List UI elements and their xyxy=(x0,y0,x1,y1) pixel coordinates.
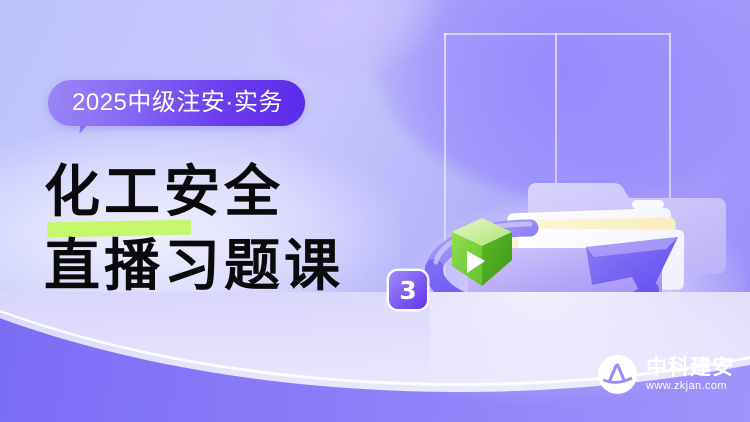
course-banner: 2025中级注安·实务 化工安全 直播习题课 3 xyxy=(0,0,750,422)
banner-content: 2025中级注安·实务 化工安全 直播习题课 3 xyxy=(0,0,750,422)
episode-number-label: 3 xyxy=(399,278,416,303)
brand-logo: 中科建安 www.zkjan.com xyxy=(598,355,734,394)
brand-logo-text: 中科建安 www.zkjan.com xyxy=(646,357,734,392)
headline-line-1: 化工安全 xyxy=(44,156,474,230)
zkjan-circle-person-logo-icon xyxy=(598,355,637,394)
kicker-label: 2025中级注安·实务 xyxy=(72,91,283,115)
brand-url: www.zkjan.com xyxy=(646,381,734,392)
brand-name: 中科建安 xyxy=(646,357,734,378)
kicker-pill: 2025中级注安·实务 xyxy=(48,80,305,126)
episode-number-badge: 3 xyxy=(389,271,427,309)
